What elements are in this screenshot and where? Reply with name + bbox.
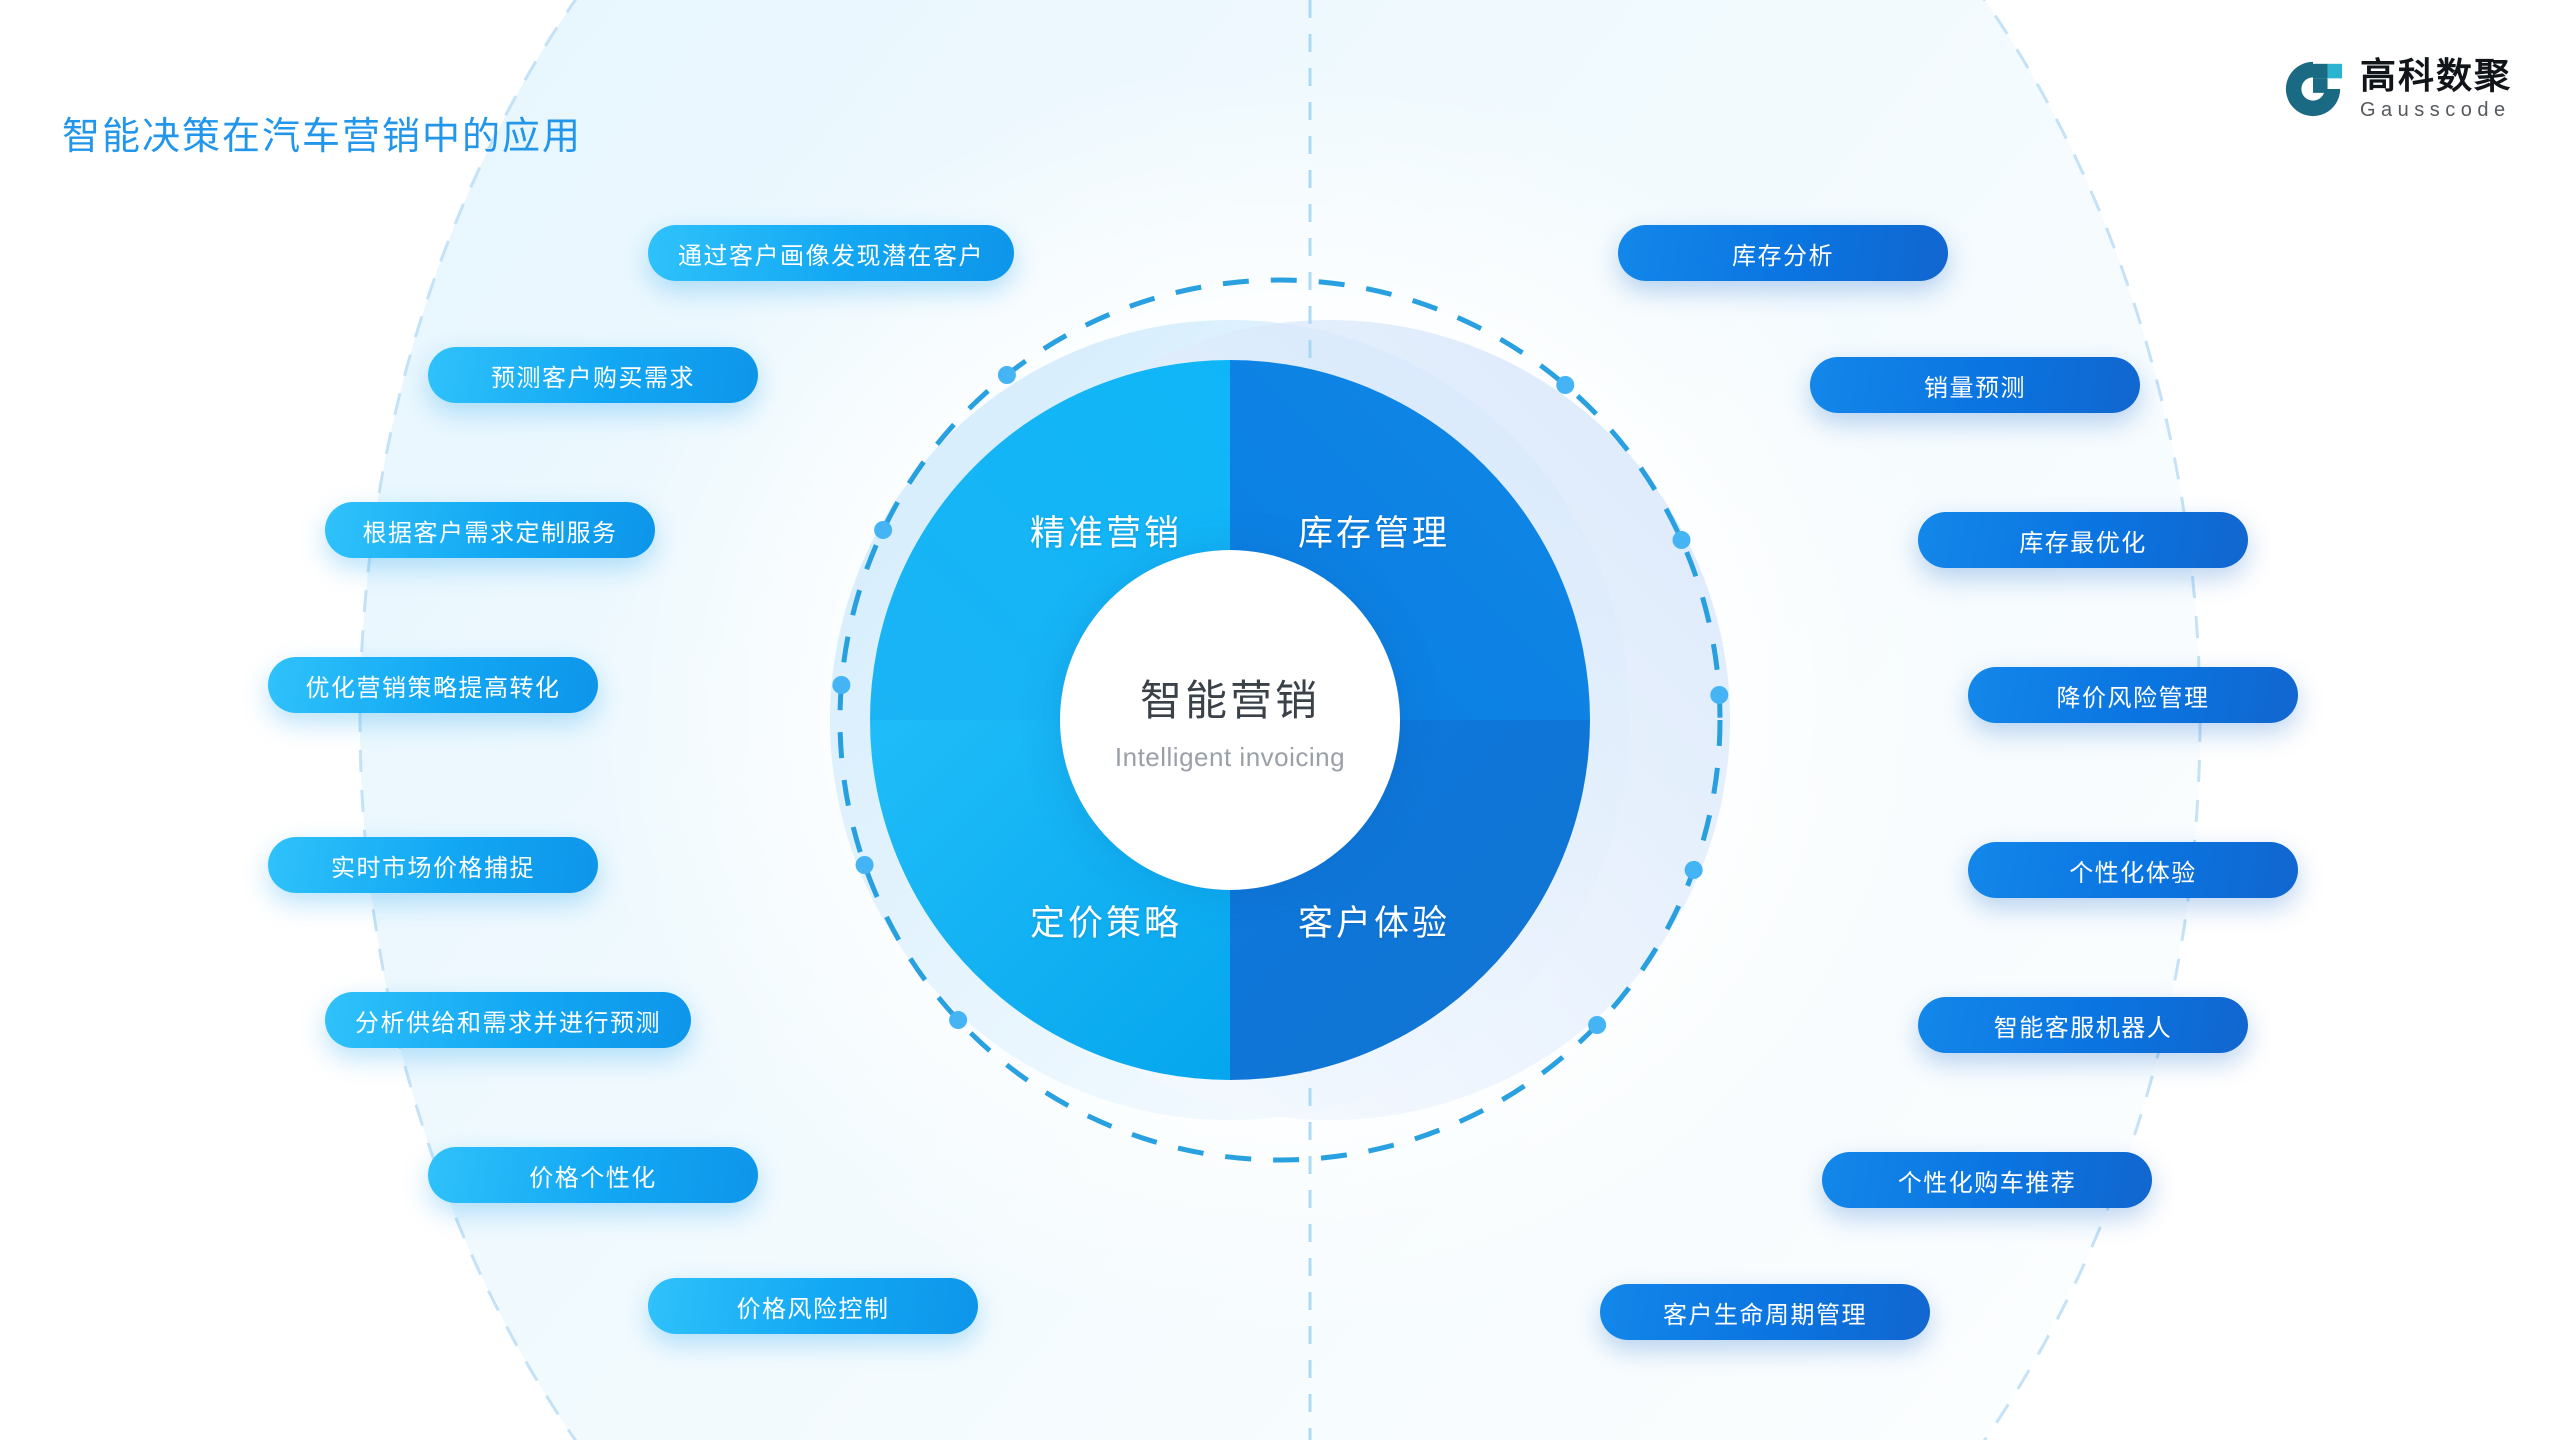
pill-label: 个性化体验 xyxy=(2069,853,2197,888)
brand-logo: 高科数聚 Gausscode xyxy=(2282,58,2512,120)
pill-left-0[interactable]: 通过客户画像发现潜在客户 xyxy=(648,225,1014,281)
pill-label: 通过客户画像发现潜在客户 xyxy=(678,236,984,271)
pill-left-4[interactable]: 实时市场价格捕捉 xyxy=(268,837,598,893)
connector-dot xyxy=(832,676,850,694)
pill-right-1[interactable]: 销量预测 xyxy=(1810,357,2140,413)
pill-label: 实时市场价格捕捉 xyxy=(331,848,535,883)
pill-right-4[interactable]: 个性化体验 xyxy=(1968,842,2298,898)
pill-label: 预测客户购买需求 xyxy=(491,358,695,393)
pill-label: 降价风险管理 xyxy=(2057,678,2210,713)
pill-label: 根据客户需求定制服务 xyxy=(363,513,618,548)
pill-label: 销量预测 xyxy=(1924,368,2026,403)
quadrant-label-top-right: 库存管理 xyxy=(1298,505,1450,556)
hub-subtitle: Intelligent invoicing xyxy=(1115,742,1345,773)
pill-label: 客户生命周期管理 xyxy=(1663,1295,1867,1330)
pill-right-2[interactable]: 库存最优化 xyxy=(1918,512,2248,568)
pill-label: 库存分析 xyxy=(1732,236,1834,271)
pill-label: 价格个性化 xyxy=(529,1158,657,1193)
quadrant-label-top-left: 精准营销 xyxy=(1030,505,1182,556)
logo-cn-text: 高科数聚 xyxy=(2360,58,2512,94)
pill-left-5[interactable]: 分析供给和需求并进行预测 xyxy=(325,992,691,1048)
pill-right-5[interactable]: 智能客服机器人 xyxy=(1918,997,2248,1053)
pill-label: 价格风险控制 xyxy=(737,1289,890,1324)
pill-label: 优化营销策略提高转化 xyxy=(306,668,561,703)
pill-left-3[interactable]: 优化营销策略提高转化 xyxy=(268,657,598,713)
gausscode-logo-icon xyxy=(2282,58,2344,120)
infographic-canvas: 智能决策在汽车营销中的应用 高科数聚 Gausscode xyxy=(0,0,2560,1440)
pill-left-1[interactable]: 预测客户购买需求 xyxy=(428,347,758,403)
pill-left-6[interactable]: 价格个性化 xyxy=(428,1147,758,1203)
hub-title: 智能营销 xyxy=(1140,667,1320,728)
connector-dot xyxy=(1672,531,1690,549)
connector-dot xyxy=(1710,686,1728,704)
connector-dot xyxy=(1588,1016,1606,1034)
quadrant-label-bottom-left: 定价策略 xyxy=(1030,895,1182,946)
logo-en-text: Gausscode xyxy=(2360,100,2512,120)
pill-right-6[interactable]: 个性化购车推荐 xyxy=(1822,1152,2152,1208)
quadrant-label-bottom-right: 客户体验 xyxy=(1298,895,1450,946)
pill-right-0[interactable]: 库存分析 xyxy=(1618,225,1948,281)
pill-right-7[interactable]: 客户生命周期管理 xyxy=(1600,1284,1930,1340)
quadrant-donut: 精准营销 库存管理 定价策略 客户体验 智能营销 Intelligent inv… xyxy=(870,360,1590,1080)
hub-center: 智能营销 Intelligent invoicing xyxy=(1060,550,1400,890)
connector-dot xyxy=(1685,861,1703,879)
page-title: 智能决策在汽车营销中的应用 xyxy=(62,105,582,160)
pill-right-3[interactable]: 降价风险管理 xyxy=(1968,667,2298,723)
pill-left-7[interactable]: 价格风险控制 xyxy=(648,1278,978,1334)
pill-left-2[interactable]: 根据客户需求定制服务 xyxy=(325,502,655,558)
pill-label: 个性化购车推荐 xyxy=(1898,1163,2077,1198)
pill-label: 分析供给和需求并进行预测 xyxy=(355,1003,661,1038)
pill-label: 库存最优化 xyxy=(2019,523,2147,558)
pill-label: 智能客服机器人 xyxy=(1994,1008,2173,1043)
